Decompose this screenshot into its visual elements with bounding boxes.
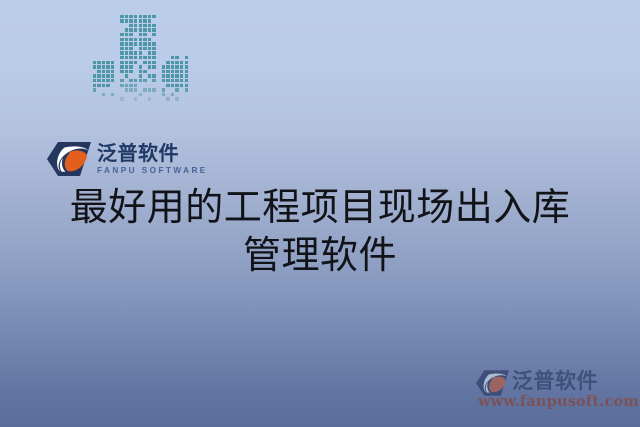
brand-name-cn: 泛普软件 (97, 140, 212, 166)
pixel-building-skyline-icon (88, 54, 190, 146)
brand-name-en: FANPU SOFTWARE (97, 166, 212, 176)
watermark-brand-name: 泛普软件 (512, 368, 598, 394)
watermark-url: www.fanpusoft.com (478, 393, 639, 410)
fanpu-hexagon-swoosh-logo-icon (47, 142, 91, 176)
page-title: 最好用的工程项目现场出入库 管理软件 (0, 183, 640, 279)
page-title-line-2: 管理软件 (0, 231, 640, 279)
brand-logo-lockup: 泛普软件 FANPU SOFTWARE (47, 140, 212, 182)
page-title-line-1: 最好用的工程项目现场出入库 (0, 183, 640, 231)
promo-banner: 泛普软件 FANPU SOFTWARE 最好用的工程项目现场出入库 管理软件 泛… (0, 0, 640, 427)
brand-name-block: 泛普软件 FANPU SOFTWARE (97, 140, 212, 176)
watermark: 泛普软件 www.fanpusoft.com (476, 368, 636, 414)
